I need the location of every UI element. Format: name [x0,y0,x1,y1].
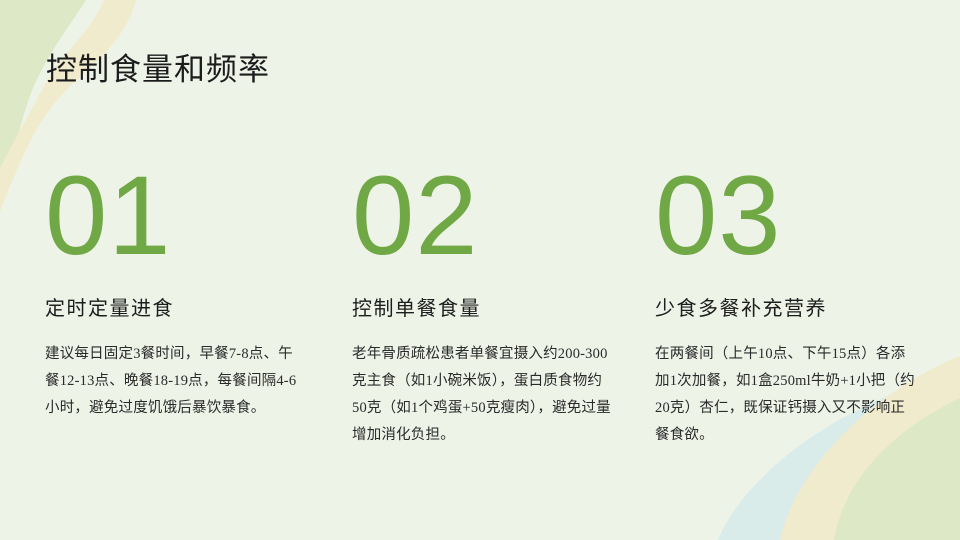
column-number-1: 01 [45,160,313,268]
column-body-2: 老年骨质疏松患者单餐宜摄入约200-300克主食（如1小碗米饭），蛋白质食物约5… [352,341,614,449]
content-column-3: 03 少食多餐补充营养 在两餐间（上午10点、下午15点）各添加1次加餐，如1盒… [655,160,923,449]
column-number-3: 03 [655,160,923,268]
column-heading-3: 少食多餐补充营养 [655,292,923,321]
content-column-1: 01 定时定量进食 建议每日固定3餐时间，早餐7-8点、午餐12-13点、晚餐1… [45,160,313,422]
column-body-3: 在两餐间（上午10点、下午15点）各添加1次加餐，如1盒250ml牛奶+1小把（… [655,341,917,449]
content-column-2: 02 控制单餐食量 老年骨质疏松患者单餐宜摄入约200-300克主食（如1小碗米… [352,160,620,449]
column-number-2: 02 [352,160,620,268]
column-body-1: 建议每日固定3餐时间，早餐7-8点、午餐12-13点、晚餐18-19点，每餐间隔… [45,341,307,422]
columns-container: 01 定时定量进食 建议每日固定3餐时间，早餐7-8点、午餐12-13点、晚餐1… [0,0,960,540]
slide-canvas: 控制食量和频率 01 定时定量进食 建议每日固定3餐时间，早餐7-8点、午餐12… [0,0,960,540]
column-heading-2: 控制单餐食量 [352,292,620,321]
column-heading-1: 定时定量进食 [45,292,313,321]
